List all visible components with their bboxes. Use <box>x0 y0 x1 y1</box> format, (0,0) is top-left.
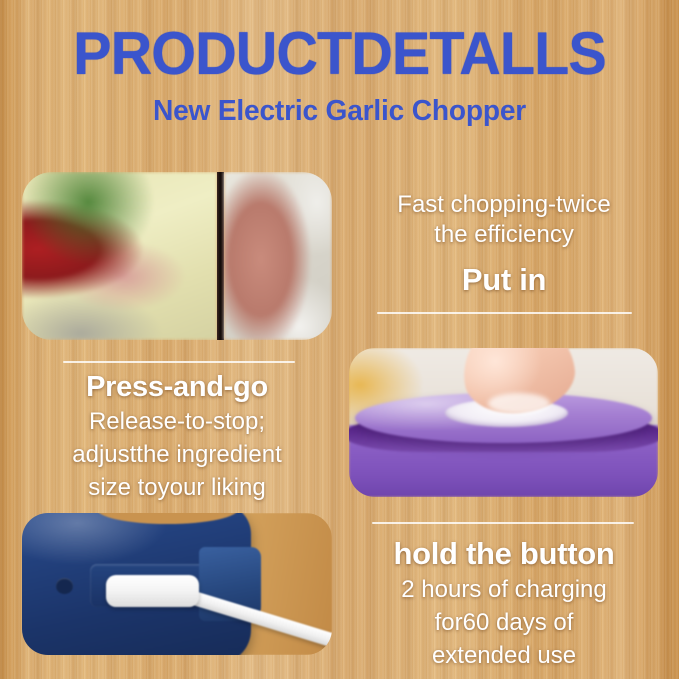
photo-right-half <box>224 172 332 340</box>
press-and-go-heading: Press-and-go <box>22 370 332 404</box>
text-block-fast-chopping: Fast chopping-twice the efficiency Put i… <box>349 190 659 298</box>
usb-plug <box>106 575 199 606</box>
text-block-hold-the-button: hold the button 2 hours of charging for6… <box>349 536 659 671</box>
press-and-go-line-1: Release-to-stop; <box>22 407 332 437</box>
hold-the-button-line-1: 2 hours of charging <box>349 575 659 605</box>
press-and-go-line-2: adjustthe ingredient <box>22 440 332 470</box>
fingernail <box>488 393 550 414</box>
photo-blue-device-usb-cable <box>22 513 332 655</box>
page-title: PRODUCTDETALLS <box>14 24 666 84</box>
fast-chopping-line-1: Fast chopping-twice <box>349 190 659 220</box>
divider-left-upper <box>63 361 295 363</box>
divider-right-lower <box>372 522 634 524</box>
page-subtitle: New Electric Garlic Chopper <box>10 95 669 127</box>
photo-left-half <box>22 172 217 340</box>
divider-right-upper <box>377 312 632 314</box>
photo-finger-pressing-purple-button <box>349 348 658 497</box>
product-details-infographic: PRODUCTDETALLS New Electric Garlic Chopp… <box>0 0 679 679</box>
photo-blur-layer <box>22 513 332 655</box>
photo-split-kitchen-chopping <box>22 172 332 340</box>
hold-the-button-heading: hold the button <box>349 536 659 572</box>
photo-blur-layer <box>349 348 658 497</box>
photo-divider-bar <box>217 172 224 340</box>
text-block-press-and-go: Press-and-go Release-to-stop; adjustthe … <box>22 370 332 503</box>
hold-the-button-line-2: for60 days of <box>349 608 659 638</box>
press-and-go-line-3: size toyour liking <box>22 473 332 503</box>
fast-chopping-line-2: the efficiency <box>349 220 659 250</box>
put-in-heading: Put in <box>349 262 659 298</box>
hold-the-button-line-3: extended use <box>349 641 659 671</box>
